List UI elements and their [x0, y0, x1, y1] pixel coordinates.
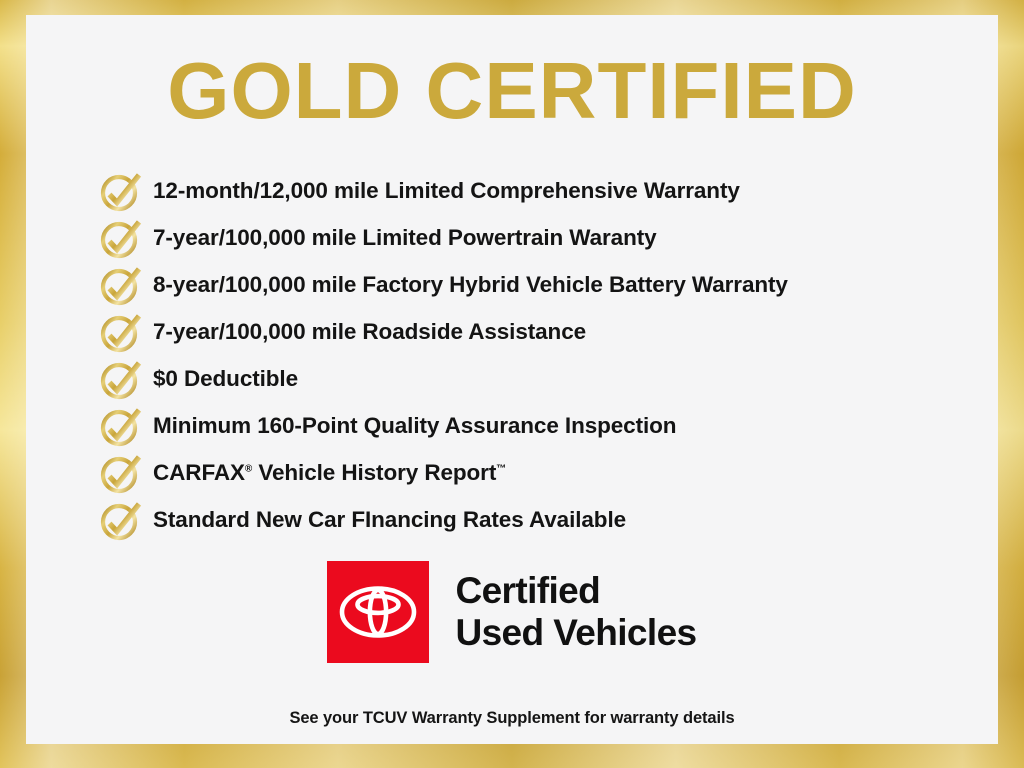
benefit-label-carfax: CARFAX® Vehicle History Report™	[153, 460, 506, 486]
gold-check-circle-icon	[98, 357, 144, 401]
benefits-list: 12-month/12,000 mile Limited Comprehensi…	[98, 167, 988, 543]
benefit-label: $0 Deductible	[153, 366, 298, 392]
gold-check-circle-icon	[98, 498, 144, 542]
lockup-line-1: Certified	[455, 570, 696, 612]
toyota-logo-tile	[327, 561, 429, 663]
toyota-certified-used-vehicles-logo: Certified Used Vehicles	[26, 561, 998, 663]
trademark-icon: ™	[496, 463, 506, 474]
gold-check-circle-icon	[98, 263, 144, 307]
gold-check-circle-icon	[98, 404, 144, 448]
list-item: Standard New Car FInancing Rates Availab…	[98, 496, 988, 543]
gold-check-circle-icon	[98, 216, 144, 260]
page-title: GOLD CERTIFIED	[26, 49, 998, 133]
list-item: 7-year/100,000 mile Limited Powertrain W…	[98, 214, 988, 261]
benefit-label: Standard New Car FInancing Rates Availab…	[153, 507, 626, 533]
list-item: 7-year/100,000 mile Roadside Assistance	[98, 308, 988, 355]
carfax-report-label: Vehicle History Report	[252, 460, 496, 485]
gold-certified-certificate: GOLD CERTIFIED 12-month/12,000 mile Li	[0, 0, 1024, 768]
list-item: 8-year/100,000 mile Factory Hybrid Vehic…	[98, 261, 988, 308]
carfax-wordmark: CARFAX	[153, 460, 245, 485]
list-item: 12-month/12,000 mile Limited Comprehensi…	[98, 167, 988, 214]
warranty-disclaimer: See your TCUV Warranty Supplement for wa…	[26, 709, 998, 728]
gold-check-circle-icon	[98, 451, 144, 495]
benefit-label: 8-year/100,000 mile Factory Hybrid Vehic…	[153, 272, 788, 298]
gold-check-circle-icon	[98, 169, 144, 213]
benefit-label: 12-month/12,000 mile Limited Comprehensi…	[153, 178, 740, 204]
list-item: Minimum 160-Point Quality Assurance Insp…	[98, 402, 988, 449]
gold-check-circle-icon	[98, 310, 144, 354]
benefit-label: 7-year/100,000 mile Limited Powertrain W…	[153, 225, 657, 251]
lockup-line-2: Used Vehicles	[455, 612, 696, 654]
benefit-label: Minimum 160-Point Quality Assurance Insp…	[153, 413, 676, 439]
toyota-emblem-icon	[338, 584, 418, 640]
list-item: $0 Deductible	[98, 355, 988, 402]
certificate-card: GOLD CERTIFIED 12-month/12,000 mile Li	[26, 15, 998, 744]
lockup-text: Certified Used Vehicles	[455, 570, 696, 654]
benefit-label: 7-year/100,000 mile Roadside Assistance	[153, 319, 586, 345]
list-item: CARFAX® Vehicle History Report™	[98, 449, 988, 496]
